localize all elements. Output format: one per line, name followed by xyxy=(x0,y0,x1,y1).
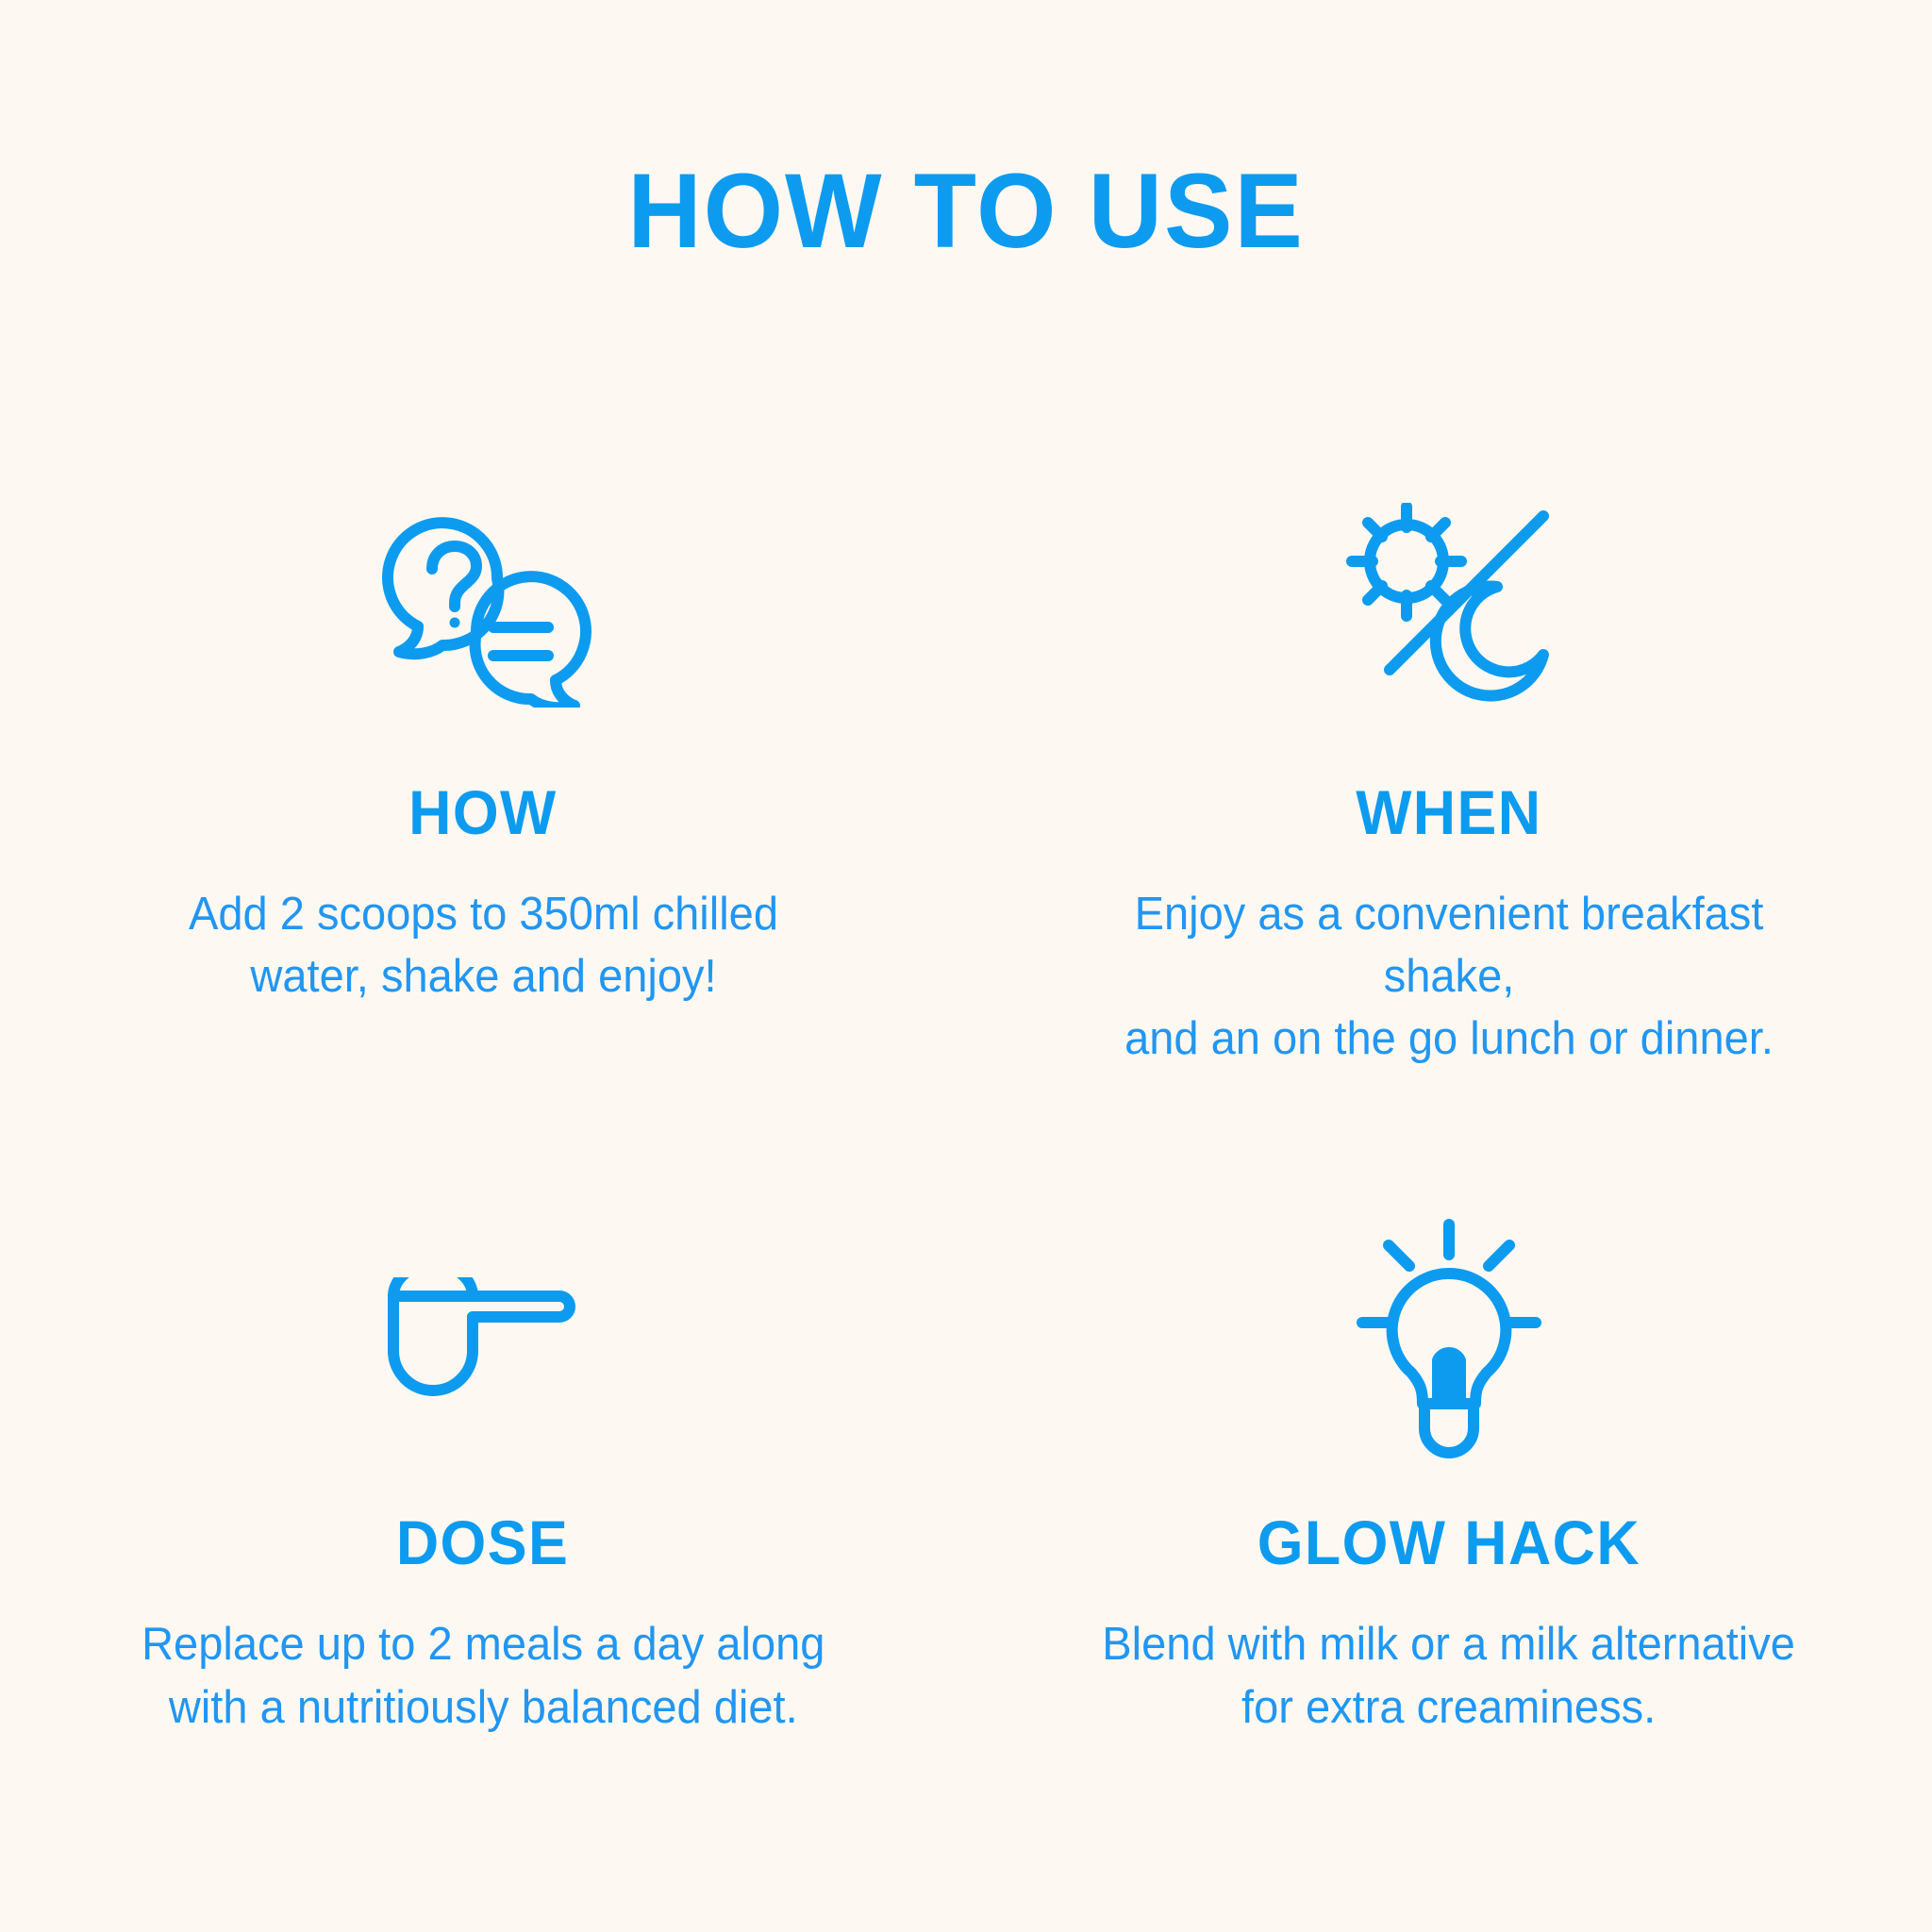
sun-moon-icon xyxy=(1341,491,1557,726)
card-body-glow-hack: Blend with milk or a milk alternative fo… xyxy=(1103,1613,1796,1738)
measuring-scoop-icon xyxy=(382,1221,585,1457)
instruction-card-dose: DOSE Replace up to 2 meals a day along w… xyxy=(0,1221,966,1738)
card-body-dose: Replace up to 2 meals a day along with a… xyxy=(142,1613,824,1738)
card-body-how: Add 2 scoops to 350ml chilled water, sha… xyxy=(189,883,778,1008)
card-title-how: HOW xyxy=(408,781,558,843)
instruction-card-how: HOW Add 2 scoops to 350ml chilled water,… xyxy=(0,491,966,1070)
instruction-card-when: WHEN Enjoy as a convenient breakfast sha… xyxy=(966,491,1932,1070)
card-title-when: WHEN xyxy=(1356,781,1541,843)
card-title-glow-hack: GLOW HACK xyxy=(1257,1511,1641,1574)
card-title-dose: DOSE xyxy=(396,1511,569,1574)
instruction-card-glow-hack: GLOW HACK Blend with milk or a milk alte… xyxy=(966,1221,1932,1738)
light-bulb-icon xyxy=(1355,1221,1543,1457)
instruction-card-grid: HOW Add 2 scoops to 350ml chilled water,… xyxy=(0,491,1932,1739)
how-to-use-infographic: HOW TO USE HOW Add 2 scoops to xyxy=(0,0,1932,1932)
speech-bubbles-icon xyxy=(375,491,591,726)
card-body-when: Enjoy as a convenient breakfast shake, a… xyxy=(1077,883,1820,1070)
page-title: HOW TO USE xyxy=(29,158,1904,264)
